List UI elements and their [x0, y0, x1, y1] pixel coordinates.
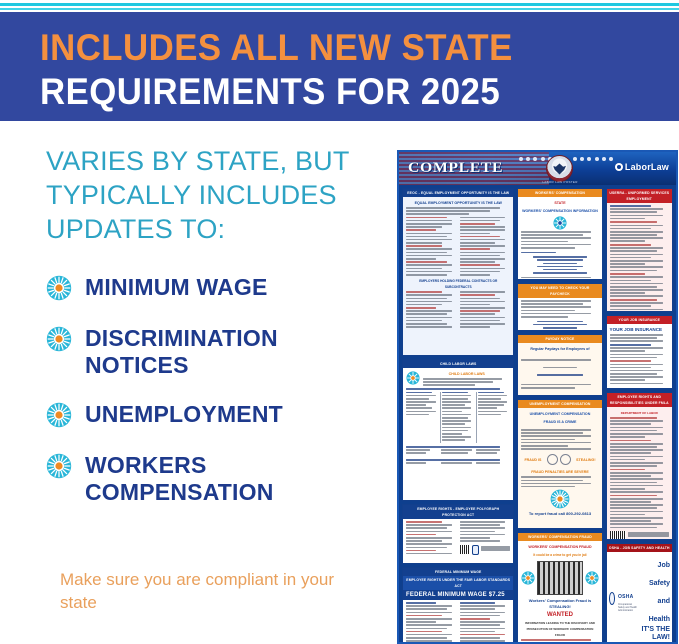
panel-heading: FEDERAL MINIMUM WAGE: [403, 568, 513, 576]
federal-minimum-wage-banner: FEDERAL MINIMUM WAGE $7.25: [403, 590, 513, 600]
panel-body: EQUAL EMPLOYMENT OPPORTUNITY IS THE LAW: [403, 197, 513, 355]
poster-panel-paycheck-notice: YOU MAY NEED TO CHECK YOUR PAYCHECK: [517, 283, 602, 331]
stars-right: [573, 157, 613, 162]
panel-heading: EEOC - EQUAL EMPLOYMENT OPPORTUNITY IS T…: [403, 189, 513, 197]
poster-column-middle: WORKERS' COMPENSATION STATE WORKERS' COM…: [517, 188, 602, 643]
compliance-footnote: Make sure you are compliant in your stat…: [60, 568, 360, 614]
fraud-caption: Workers' Compensation Fraud is STEALING!: [521, 597, 598, 611]
osha-seal-icon: [609, 592, 615, 605]
poster-brand-title: COMPLETE: [408, 160, 503, 177]
panel-body: CHILD LABOR LAWS: [403, 368, 513, 500]
handcuffs-icon: [547, 452, 571, 467]
panel-heading: USERRA - UNIFORMED SERVICES EMPLOYMENT: [607, 189, 672, 203]
list-item: WORKERS COMPENSATION: [46, 450, 386, 506]
list-item-label: MINIMUM WAGE: [85, 274, 268, 301]
panel-heading: WORKERS' COMPENSATION: [518, 189, 601, 197]
panel-body: [403, 600, 513, 643]
wanted-subtext: INFORMATION LEADING TO THE DISCOVERY AND…: [521, 619, 598, 639]
poster-panel-eeoc: EEOC - EQUAL EMPLOYMENT OPPORTUNITY IS T…: [402, 188, 514, 356]
poster-panel-federal-minimum-wage: FEDERAL MINIMUM WAGE EMPLOYEE RIGHTS UND…: [402, 567, 514, 643]
list-item: DISCRIMINATION NOTICES: [46, 323, 386, 379]
starburst-icon: [46, 453, 72, 479]
panel-body: Regular Paydays for Employees of: [518, 343, 601, 395]
poster-panel-osha: OSHA - JOB SAFETY AND HEALTH OSHA Occupa…: [606, 543, 673, 643]
osha-label: OSHA: [618, 594, 634, 600]
poster-body: EEOC - EQUAL EMPLOYMENT OPPORTUNITY IS T…: [399, 185, 676, 644]
qr-code-icon: [610, 531, 626, 540]
osha-title-1: Job Safety and Health: [649, 562, 670, 623]
panel-heading: YOUR JOB INSURANCE: [607, 316, 672, 324]
panel-body: [518, 298, 601, 331]
starburst-icon: [553, 216, 567, 230]
logo-text: LaborLaw: [625, 162, 669, 172]
header-banner: INCLUDES ALL NEW STATE REQUIREMENTS FOR …: [0, 12, 679, 121]
promo-graphic: INCLUDES ALL NEW STATE REQUIREMENTS FOR …: [0, 0, 679, 644]
panel-subtitle: Regular Paydays for Employees of: [521, 345, 598, 353]
panel-heading: PAYDAY NOTICE: [518, 335, 601, 343]
left-content-column: VARIES BY STATE, BUT TYPICALLY INCLUDES …: [0, 128, 390, 644]
starburst-icon: [406, 371, 420, 385]
poster-panel-workers-comp-fraud: WORKERS' COMPENSATION FRAUD WORKERS' COM…: [517, 532, 602, 643]
fraud-callout-left: FRAUD IS: [524, 458, 541, 462]
panel-subtitle: WORKERS' COMPENSATION FRAUD: [521, 543, 598, 551]
osha-title-2: IT'S THE LAW!: [641, 626, 670, 642]
laborlaw-logo: LaborLaw: [615, 162, 669, 172]
osha-branding: OSHA Occupational Safety and Health Admi…: [607, 552, 672, 643]
banner-headline-primary: INCLUDES ALL NEW STATE: [40, 26, 641, 70]
panel-subtitle: CHILD LABOR LAWS: [423, 370, 510, 378]
list-item-label: WORKERS COMPENSATION: [85, 452, 386, 506]
poster-panel-polygraph: EMPLOYEE RIGHTS - EMPLOYEE POLYGRAPH PRO…: [402, 504, 514, 564]
panel-body: [403, 519, 513, 563]
poster-column-right: USERRA - UNIFORMED SERVICES EMPLOYMENT: [606, 188, 673, 643]
starburst-icon: [46, 326, 72, 352]
poster-panel-child-labor: CHILD LABOR LAWS: [402, 359, 514, 501]
poster-panel-workers-comp-info: WORKERS' COMPENSATION STATE WORKERS' COM…: [517, 188, 602, 280]
panel-body: WORKERS' COMPENSATION FRAUD It could be …: [518, 541, 601, 643]
poster-panel-job-insurance: YOUR JOB INSURANCE YOUR JOB INSURANCE: [606, 315, 673, 389]
panel-subtitle: DEPARTMENT OF LABOR: [610, 409, 669, 417]
panel-section-title: EMPLOYERS HOLDING FEDERAL CONTRACTS OR S…: [406, 277, 510, 291]
list-item: MINIMUM WAGE: [46, 272, 386, 301]
panel-subtitle-2: WORKERS' COMPENSATION INFORMATION: [521, 207, 598, 215]
fraud-callout: FRAUD IS STEALING!: [521, 451, 598, 468]
poster-panel-unemployment-fraud: UNEMPLOYMENT COMPENSATION UNEMPLOYMENT C…: [517, 399, 602, 529]
penalty-title: FRAUD PENALTIES ARE SEVERE: [521, 468, 598, 476]
jail-bars-photo: [537, 561, 582, 595]
starburst-icon: [550, 489, 570, 509]
poster-column-left: EEOC - EQUAL EMPLOYMENT OPPORTUNITY IS T…: [402, 188, 514, 643]
agency-seal-icon: [472, 545, 479, 555]
panel-heading: YOU MAY NEED TO CHECK YOUR PAYCHECK: [518, 284, 601, 298]
panel-body: DEPARTMENT OF LABOR: [607, 407, 672, 540]
panel-heading: CHILD LABOR LAWS: [403, 360, 513, 368]
poster-panel-userra: USERRA - UNIFORMED SERVICES EMPLOYMENT: [606, 188, 673, 312]
poster-panel-fmla: EMPLOYEE RIGHTS AND RESPONSIBILITIES UND…: [606, 392, 673, 540]
top-accent-rule-secondary: [0, 8, 679, 10]
panel-heading: EMPLOYEE RIGHTS AND RESPONSIBILITIES UND…: [607, 393, 672, 407]
list-item-label: DISCRIMINATION NOTICES: [85, 325, 386, 379]
labor-law-poster-image: COMPLETE LABOR LAW POSTER LaborLaw EEOC …: [397, 150, 678, 644]
banner-headline-secondary: REQUIREMENTS FOR 2025: [40, 70, 641, 114]
panel-subtitle-2: FRAUD IS A CRIME: [521, 418, 598, 426]
panel-subtitle: YOUR JOB INSURANCE: [610, 326, 669, 334]
list-item-label: UNEMPLOYMENT: [85, 401, 283, 428]
panel-body: UNEMPLOYMENT COMPENSATION FRAUD IS A CRI…: [518, 408, 601, 528]
starburst-icon: [46, 402, 72, 428]
starburst-icon: [585, 571, 599, 585]
lead-heading: VARIES BY STATE, BUT TYPICALLY INCLUDES …: [46, 144, 376, 246]
fraud-callout-right: STEALING!: [576, 458, 595, 462]
starburst-icon: [46, 275, 72, 301]
qr-code-icon: [460, 545, 470, 554]
feature-bullet-list: MINIMUM WAGE: [46, 272, 386, 526]
panel-subtitle: EQUAL EMPLOYMENT OPPORTUNITY IS THE LAW: [406, 199, 510, 207]
eagle-seal-icon: [546, 155, 573, 182]
panel-heading: EMPLOYEE RIGHTS - EMPLOYEE POLYGRAPH PRO…: [403, 505, 513, 519]
panel-subtitle: STATE: [521, 199, 598, 207]
starburst-icon: [521, 571, 535, 585]
logo-mark-icon: [615, 163, 623, 171]
poster-panel-payday-notice: PAYDAY NOTICE Regular Paydays for Employ…: [517, 334, 602, 396]
fraud-hotline: To report fraud call 800-292-0813: [521, 510, 598, 518]
poster-header: COMPLETE LABOR LAW POSTER LaborLaw: [399, 152, 676, 185]
panel-subheading: EMPLOYEE RIGHTS UNDER THE FAIR LABOR STA…: [403, 576, 513, 590]
list-item: UNEMPLOYMENT: [46, 399, 386, 428]
top-accent-rule-primary: [0, 3, 679, 6]
osha-sublabel: Occupational Safety and Health Administr…: [618, 603, 638, 612]
panel-heading: UNEMPLOYMENT COMPENSATION: [518, 400, 601, 408]
panel-body: [607, 203, 672, 312]
panel-body: YOUR JOB INSURANCE: [607, 324, 672, 388]
panel-body: STATE WORKERS' COMPENSATION INFORMATION: [518, 197, 601, 280]
panel-heading: WORKERS' COMPENSATION FRAUD: [518, 533, 601, 541]
panel-subtitle-2: It could be a crime to get you in jail: [521, 551, 598, 559]
panel-heading: OSHA - JOB SAFETY AND HEALTH: [607, 544, 672, 552]
panel-subtitle: UNEMPLOYMENT COMPENSATION: [521, 410, 598, 418]
wanted-heading: WANTED: [521, 611, 598, 619]
